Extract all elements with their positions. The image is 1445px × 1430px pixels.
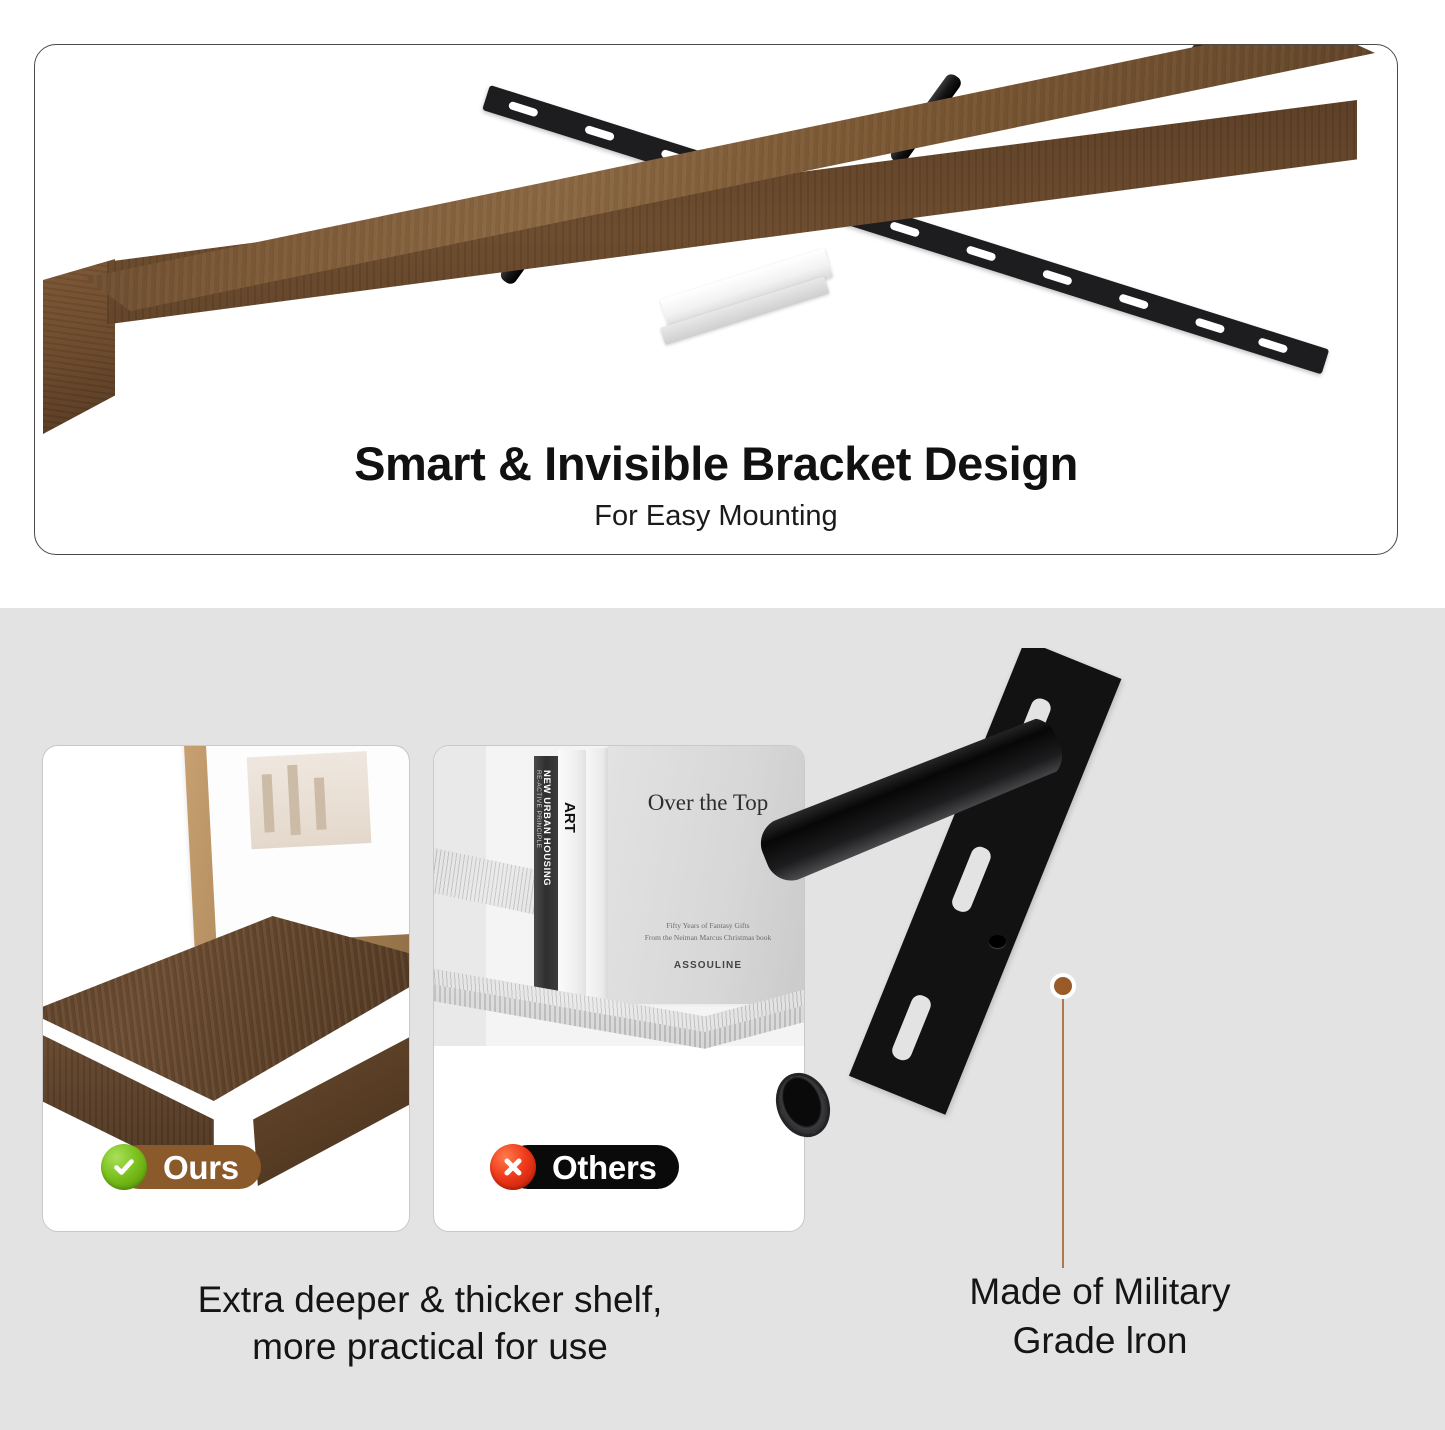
book-spine-new-urban-housing: NEW URBAN HOUSING RE-ACTIVE PRINCIPLE [534,756,558,1002]
mount-bar-slot [966,245,997,262]
bracket-caption-line2: Grade lron [850,1317,1350,1366]
bracket-plate-slot [949,844,993,915]
artwork-detail [262,774,275,832]
top-feature-panel: Smart & Invisible Bracket Design For Eas… [0,0,1445,608]
bracket-rod-opening [767,1065,840,1146]
bracket-wall-plate [849,648,1121,1115]
mount-bar-slot [1118,293,1149,310]
artwork-detail [314,777,327,829]
hero-card: Smart & Invisible Bracket Design For Eas… [34,44,1398,555]
hero-shelf-illustration [35,45,1398,475]
page-subtitle: For Easy Mounting [35,502,1397,531]
callout-dot [1050,973,1076,999]
bracket-illustration [760,648,1445,1268]
comparison-panel: Ours NEW URBAN HOUSING RE-ACTIVE PRINCIP… [0,608,1445,1430]
bracket-caption: Made of Military Grade lron [850,1268,1350,1366]
artwork-detail [287,765,301,835]
badge-others: Others [490,1144,679,1190]
mount-bar-slot [1042,269,1073,286]
callout-leader-line [1062,998,1064,1268]
book-spine-art: ART [558,750,586,1002]
mount-bar-slot [1257,337,1288,354]
bracket-screw-hole [989,935,1006,948]
check-circle-icon [101,1144,147,1190]
cross-circle-icon [490,1144,536,1190]
comparison-caption: Extra deeper & thicker shelf, more pract… [20,1276,840,1371]
comparison-caption-line2: more practical for use [20,1323,840,1370]
book-spine-title: NEW URBAN HOUSING [541,770,552,886]
badge-ours: Ours [101,1144,261,1190]
comparison-card-ours: Ours [42,745,410,1232]
mount-bar-slot [584,125,615,142]
comparison-caption-line1: Extra deeper & thicker shelf, [20,1276,840,1323]
bracket-plate-slot [889,992,933,1063]
bracket-caption-line1: Made of Military [850,1268,1350,1317]
mount-bar-slot [889,221,920,238]
mount-bar-slot [508,101,539,118]
page-title: Smart & Invisible Bracket Design [35,440,1397,487]
picture-frame-art [247,751,372,849]
book-spine-subtitle: RE-ACTIVE PRINCIPLE [535,770,542,848]
mount-bar-slot [1194,317,1225,334]
book-spine-title: ART [561,802,578,833]
comparison-card-others: NEW URBAN HOUSING RE-ACTIVE PRINCIPLE AR… [433,745,805,1232]
book-page-edge [586,748,608,1002]
